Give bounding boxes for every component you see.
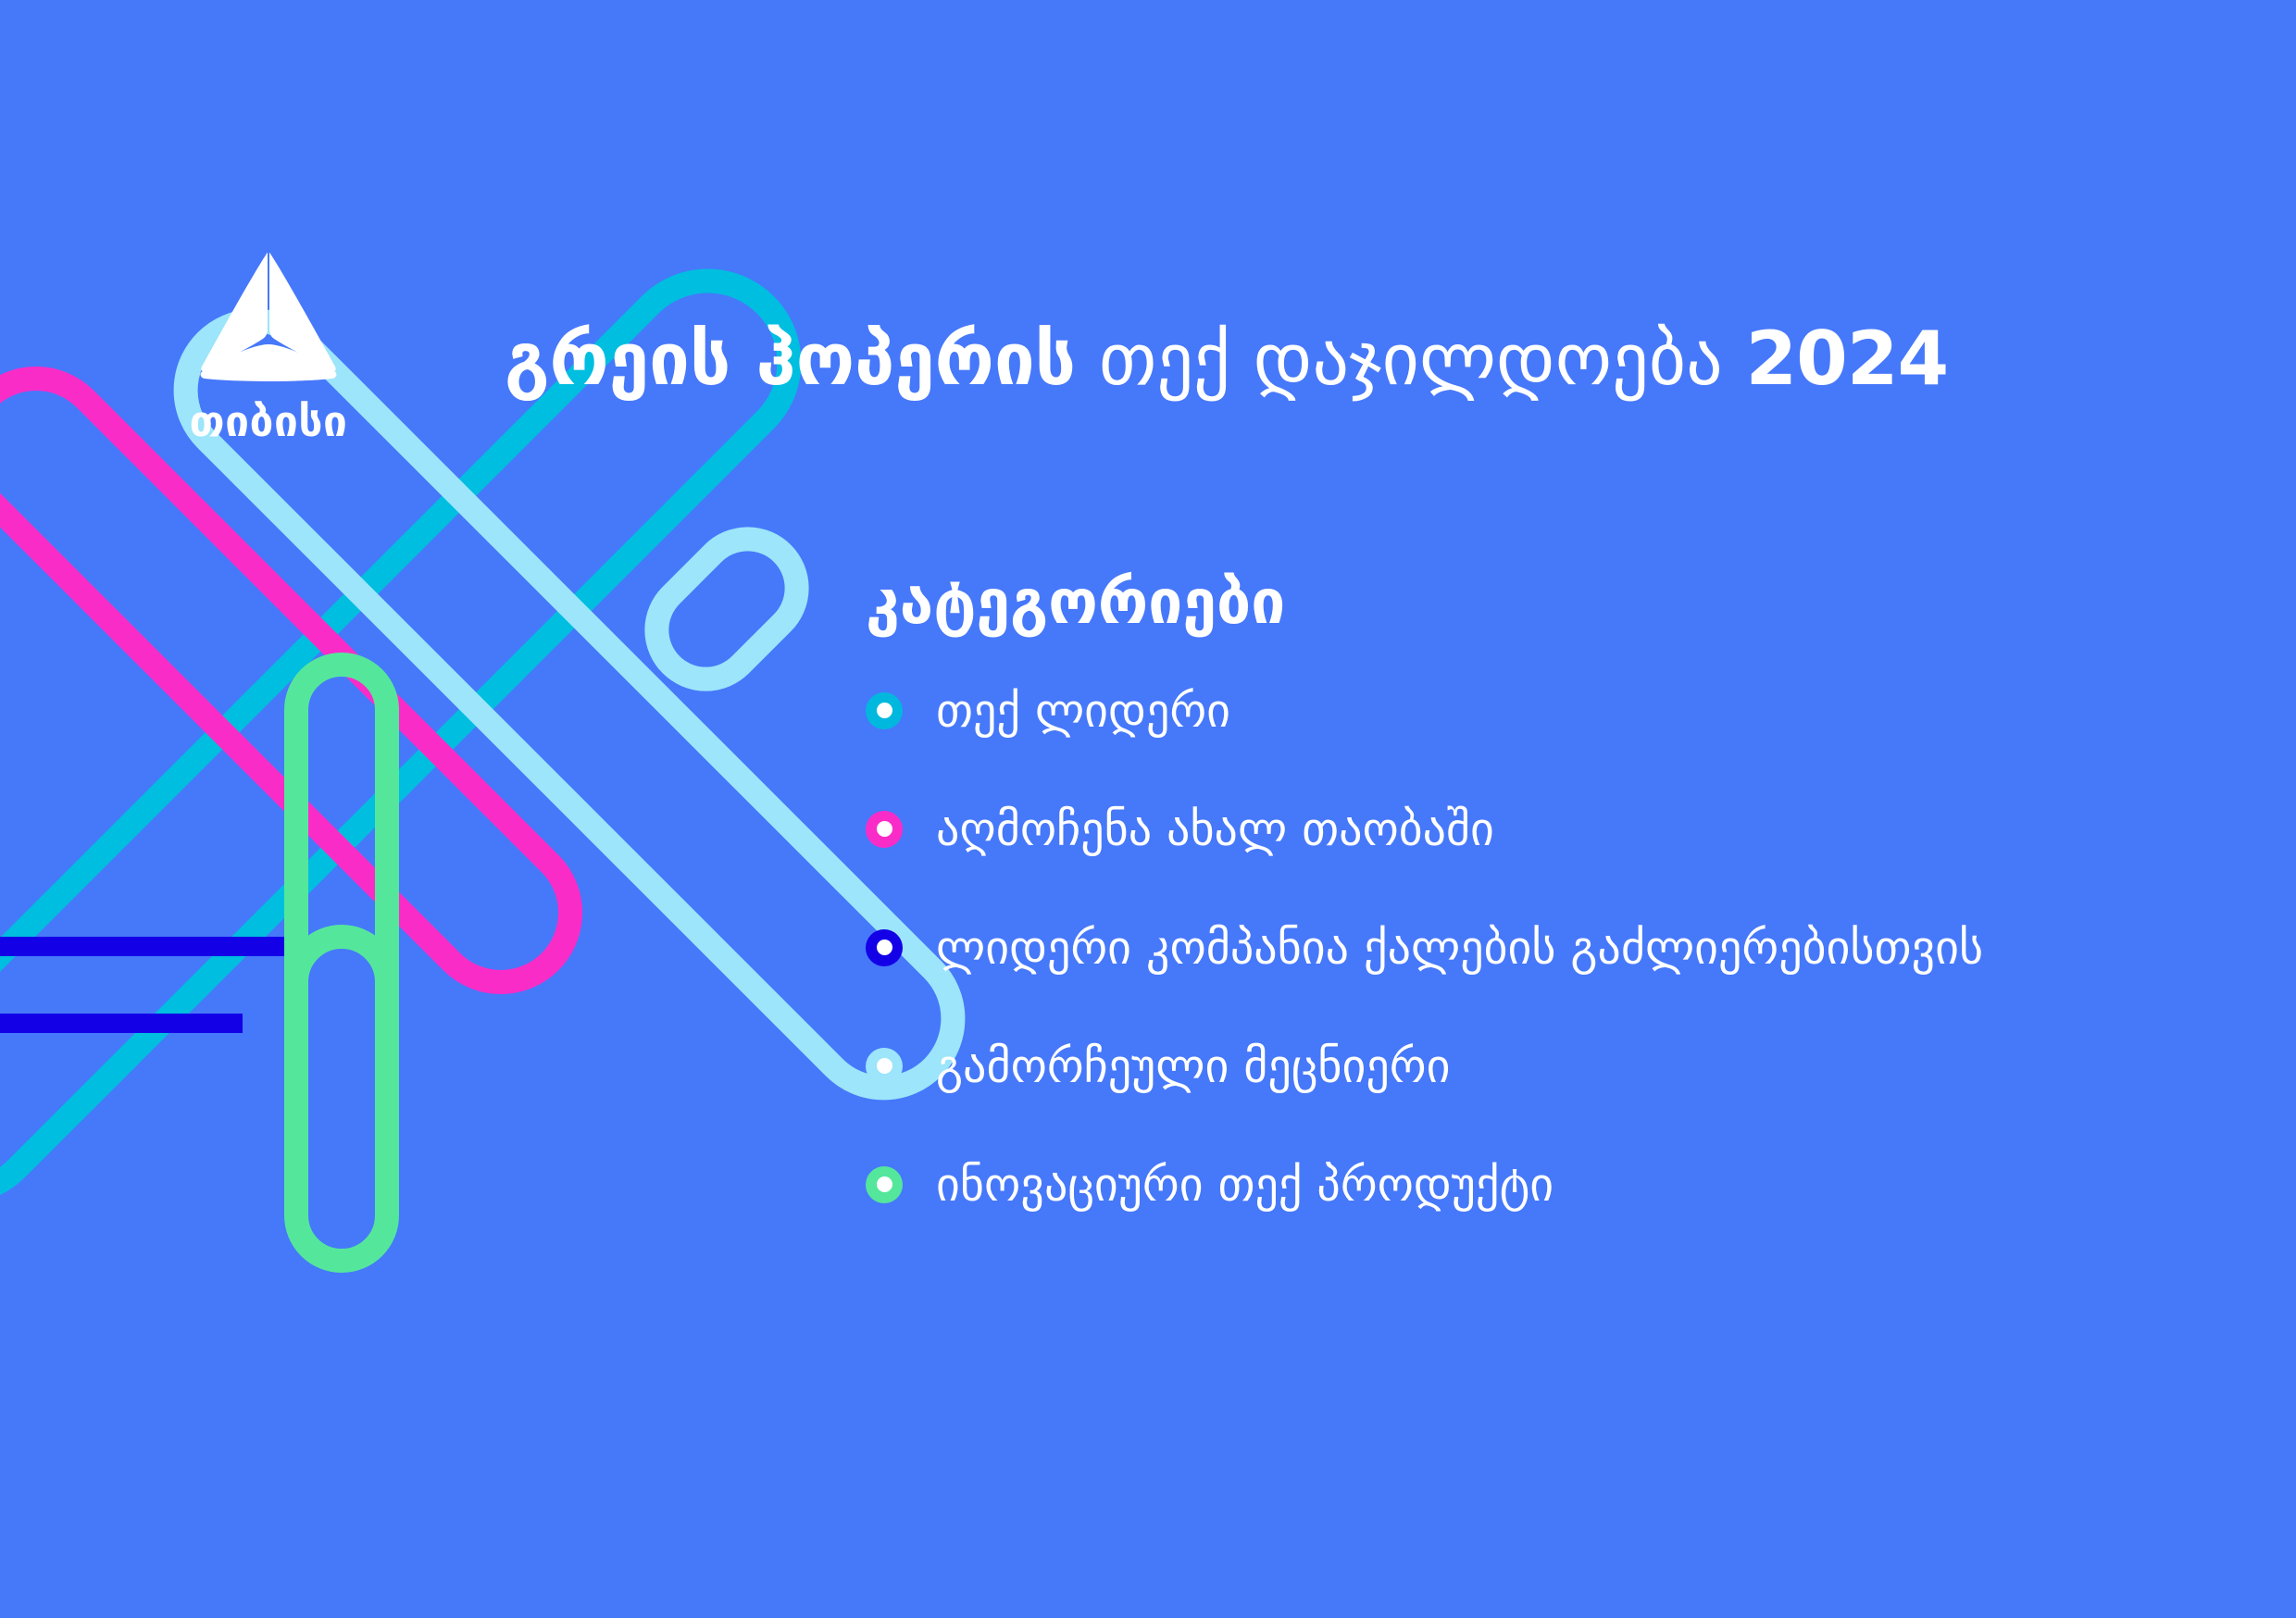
poster-canvas: თიბისი გრეის ჰოპერის თექ დაჯილდოება 2024… [0,0,2296,1618]
bar-deepblue-top [0,937,307,956]
category-label: გამორჩეული მეცნიერი [936,1043,1450,1089]
bullet-green-icon [866,1166,903,1203]
pill-magenta-diagonal [0,350,599,1011]
pill-lightblue-small [636,518,817,699]
category-item-tech-leader[interactable]: თექ ლიდერი [866,678,2236,744]
bullet-light-blue-icon [866,1048,903,1085]
categories-section: კატეგორიები თექ ლიდერი აღმოჩენა ახალ თაო… [866,569,2236,1270]
bullet-magenta-icon [866,811,903,848]
title-bold-part: გრეის ჰოპერის [505,318,1076,402]
category-label: ინოვაციური თექ პროდუქტი [936,1162,1554,1208]
category-item-new-generation-discovery[interactable]: აღმოჩენა ახალ თაობაში [866,796,2236,863]
pill-green-vertical-upper [296,665,387,1109]
brand-wordmark: თიბისი [148,400,389,442]
title-light-part: თექ დაჯილდოება [1099,318,1723,402]
category-item-outstanding-scientist[interactable]: გამორჩეული მეცნიერი [866,1033,2236,1100]
category-label: თექ ლიდერი [936,688,1230,734]
pill-green-vertical-lower [296,937,387,1261]
bullet-deep-blue-icon [866,929,903,966]
category-item-leading-company-women-empowerment[interactable]: ლიდერი კომპანია ქალების გაძლიერებისთვის [866,915,2236,981]
brand-logo-block: თიბისი [148,248,389,442]
category-label: აღმოჩენა ახალ თაობაში [936,806,1494,853]
tbc-triangle-logo-icon [194,248,343,387]
bar-deepblue-bottom [0,1014,243,1033]
title-year: 2024 [1745,316,1948,402]
category-item-innovative-tech-product[interactable]: ინოვაციური თექ პროდუქტი [866,1151,2236,1218]
category-label: ლიდერი კომპანია ქალების გაძლიერებისთვის [936,925,1983,971]
categories-heading: კატეგორიები [866,569,2236,637]
page-title: გრეის ჰოპერის თექ დაჯილდოება 2024 [505,322,1948,396]
bullet-cyan-icon [866,692,903,729]
